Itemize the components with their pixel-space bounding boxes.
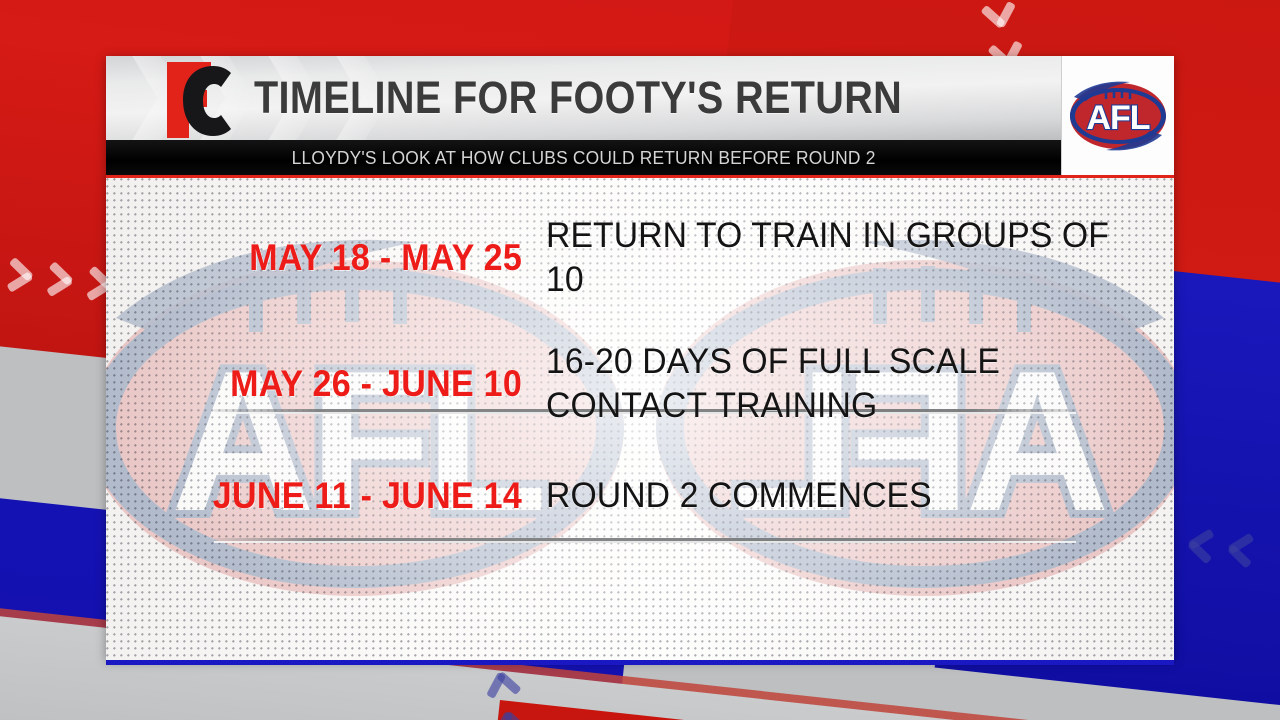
timeline-dates: MAY 18 - MAY 25 [141, 237, 546, 279]
afl-logo-box: AFL [1061, 56, 1174, 175]
timeline-row: MAY 26 - JUNE 10 16-20 DAYS OF FULL SCAL… [106, 332, 1174, 436]
chevron-icon [978, 0, 1022, 32]
chevron-icon [1225, 529, 1255, 572]
svg-text:AFL: AFL [1086, 99, 1149, 137]
panel-bottom-rule [106, 660, 1174, 665]
chevron-icon [481, 668, 525, 701]
chevron-icon [1185, 524, 1215, 567]
subtitle-bar: LLOYDY'S LOOK AT HOW CLUBS COULD RETURN … [106, 140, 1062, 175]
timeline-dates: JUNE 11 - JUNE 14 [141, 475, 546, 517]
chevron-icon [5, 254, 35, 297]
afl-logo-icon: AFL [1068, 79, 1168, 153]
panel-content: AFL AFL MAY 18 - MAY 25 R [106, 178, 1174, 660]
timeline-dates: MAY 26 - JUNE 10 [141, 363, 546, 405]
timeline-description: ROUND 2 COMMENCES [546, 474, 1143, 518]
timeline-description: RETURN TO TRAIN IN GROUPS OF 10 [546, 214, 1143, 301]
page-title: TIMELINE FOR FOOTY'S RETURN [254, 56, 958, 140]
fox-footy-logo-icon [149, 60, 239, 140]
timeline-row: JUNE 11 - JUNE 14 ROUND 2 COMMENCES [106, 460, 1174, 532]
timeline-divider [214, 538, 1076, 543]
chevron-icon [488, 707, 532, 720]
chevron-icon [45, 259, 75, 302]
timeline-row: MAY 18 - MAY 25 RETURN TO TRAIN IN GROUP… [106, 206, 1174, 310]
subtitle-text: LLOYDY'S LOOK AT HOW CLUBS COULD RETURN … [292, 147, 876, 169]
timeline-description: 16-20 DAYS OF FULL SCALE CONTACT TRAININ… [546, 340, 1143, 427]
graphic-panel: TIMELINE FOR FOOTY'S RETURN LLOYDY'S LOO… [106, 56, 1174, 660]
panel-header: TIMELINE FOR FOOTY'S RETURN [106, 56, 1174, 140]
timeline-list: MAY 18 - MAY 25 RETURN TO TRAIN IN GROUP… [106, 178, 1174, 660]
